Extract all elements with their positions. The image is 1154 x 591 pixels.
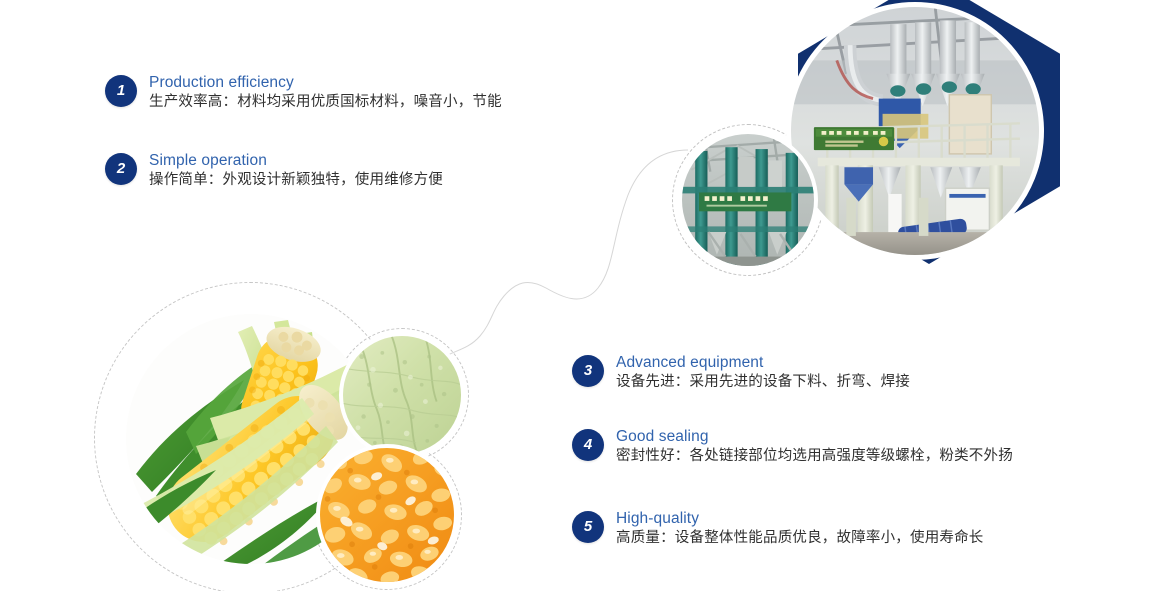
green-milling-line-photo — [678, 130, 818, 270]
feature-badge-3: 3 — [572, 355, 604, 387]
feature-desc-1: 生产效率高：材料均采用优质国标材料，噪音小，节能 — [149, 92, 502, 113]
small-factory-banner — [699, 192, 791, 211]
feature-desc-4: 密封性好：各处链接部位均选用高强度等级螺栓，粉类不外扬 — [616, 446, 1013, 467]
feature-desc-2: 操作简单：外观设计新颖独特，使用维修方便 — [149, 170, 443, 191]
feature-badge-4: 4 — [572, 429, 604, 461]
feature-text-2: Simple operation 操作简单：外观设计新颖独特，使用维修方便 — [149, 151, 443, 191]
flour-milling-plant-photo — [786, 2, 1044, 260]
feature-item-2[interactable]: 2 Simple operation 操作简单：外观设计新颖独特，使用维修方便 — [105, 151, 443, 191]
feature-text-3: Advanced equipment 设备先进：采用先进的设备下料、折弯、焊接 — [616, 353, 910, 393]
feature-title-2: Simple operation — [149, 151, 443, 170]
feature-item-3[interactable]: 3 Advanced equipment 设备先进：采用先进的设备下料、折弯、焊… — [572, 353, 910, 393]
corn-paste-texture-photo — [339, 332, 465, 458]
feature-badge-2: 2 — [105, 153, 137, 185]
factory-banner — [814, 127, 894, 150]
feature-title-5: High-quality — [616, 509, 984, 528]
feature-item-4[interactable]: 4 Good sealing 密封性好：各处链接部位均选用高强度等级螺栓，粉类不… — [572, 427, 1013, 467]
feature-text-4: Good sealing 密封性好：各处链接部位均选用高强度等级螺栓，粉类不外扬 — [616, 427, 1013, 467]
corn-grits-photo — [316, 444, 458, 586]
feature-item-1[interactable]: 1 Production efficiency 生产效率高：材料均采用优质国标材… — [105, 73, 502, 113]
feature-text-1: Production efficiency 生产效率高：材料均采用优质国标材料，… — [149, 73, 502, 113]
feature-text-5: High-quality 高质量：设备整体性能品质优良，故障率小，使用寿命长 — [616, 509, 984, 549]
feature-title-3: Advanced equipment — [616, 353, 910, 372]
feature-badge-1: 1 — [105, 75, 137, 107]
feature-badge-5: 5 — [572, 511, 604, 543]
feature-showcase-page: 1 Production efficiency 生产效率高：材料均采用优质国标材… — [0, 0, 1154, 591]
feature-desc-3: 设备先进：采用先进的设备下料、折弯、焊接 — [616, 372, 910, 393]
feature-title-4: Good sealing — [616, 427, 1013, 446]
feature-title-1: Production efficiency — [149, 73, 502, 92]
feature-item-5[interactable]: 5 High-quality 高质量：设备整体性能品质优良，故障率小，使用寿命长 — [572, 509, 984, 549]
feature-desc-5: 高质量：设备整体性能品质优良，故障率小，使用寿命长 — [616, 528, 984, 549]
